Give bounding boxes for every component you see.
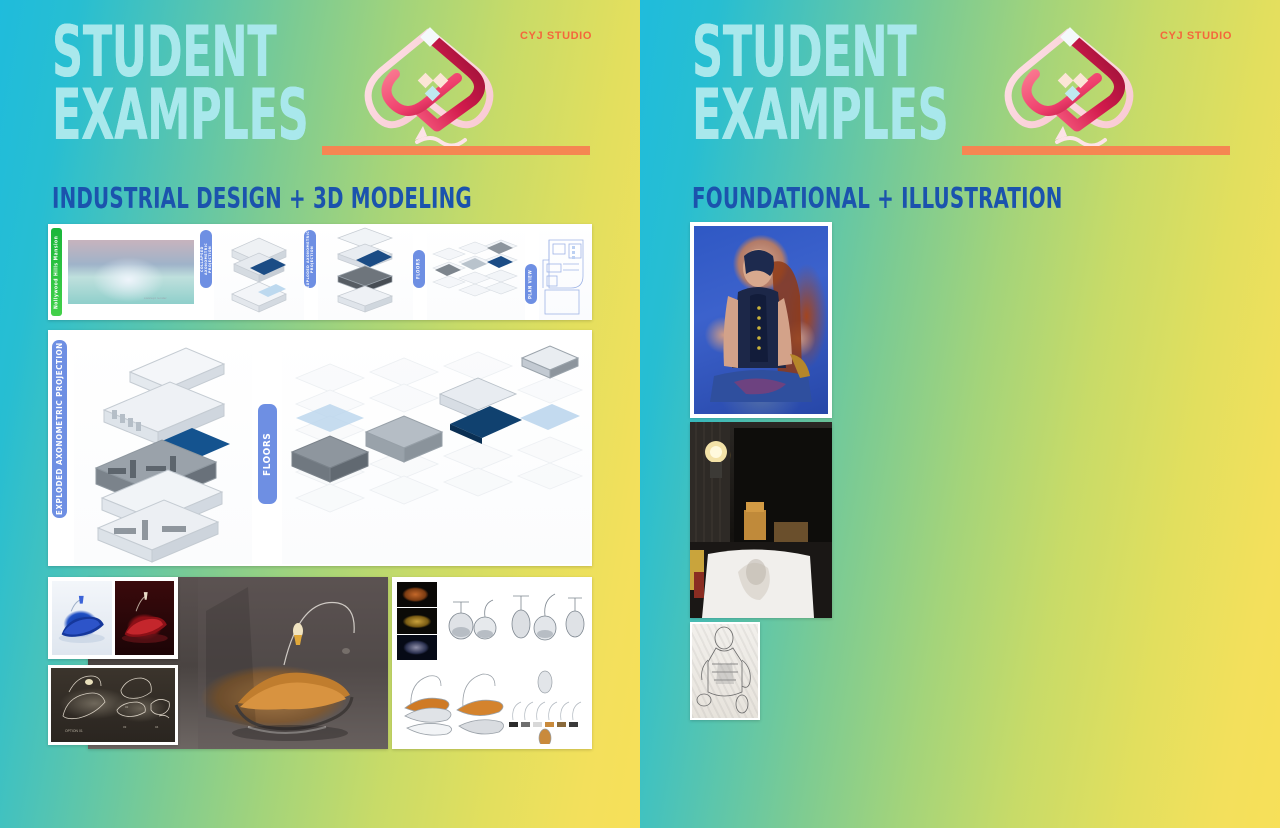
strip-label-plan-view: PLAN VIEW xyxy=(525,264,537,304)
svg-text:04: 04 xyxy=(155,725,159,729)
anatomy-torso-study xyxy=(692,624,758,718)
lounge-chair-color-tile[interactable] xyxy=(48,577,178,659)
page-title: STUDENT EXAMPLES xyxy=(52,22,308,149)
lounge-chair-sketch-tile[interactable]: OPTION 01 02 03 04 xyxy=(48,665,178,745)
mansion-render xyxy=(68,240,194,304)
cyj-studio-logo-icon xyxy=(345,18,515,158)
strip-label-mansion: Nollywood Hills Mansion xyxy=(51,228,62,316)
poster-board: STUDENT EXAMPLES CYJ STUDIO xyxy=(0,0,1280,828)
lounge-chair-red-render xyxy=(115,581,175,655)
lounge-chair-ideation-sketches: OPTION 01 02 03 04 xyxy=(51,668,175,742)
studio-setup-tile[interactable] xyxy=(690,422,832,618)
strip-label-floors: FLOORS xyxy=(413,250,425,288)
title-rule xyxy=(322,146,590,155)
collapsed-axonometric-render xyxy=(214,224,304,320)
strip-label-exploded: EXPLODED AXONOMETRIC PROJECTION xyxy=(304,230,316,288)
strip-label-collapsed: COLLAPSED AXONOMETRIC PROJECTION xyxy=(200,230,212,288)
lamp-form-iterations xyxy=(439,582,587,660)
title-rule xyxy=(962,146,1230,155)
seated-figure-oil-painting xyxy=(694,226,828,414)
floors-sequence-large xyxy=(282,332,590,564)
anatomy-study-tile[interactable] xyxy=(690,622,760,720)
svg-text:03: 03 xyxy=(123,725,127,729)
lounge-chair-blue-render xyxy=(52,581,112,655)
seated-figure-painting-tile[interactable] xyxy=(690,222,832,418)
studio-tag: CYJ STUDIO xyxy=(1160,30,1232,42)
svg-text:02: 02 xyxy=(125,705,129,709)
sketch-caption: OPTION 01 xyxy=(65,729,83,733)
cyj-studio-logo-icon xyxy=(985,18,1155,158)
page-title: STUDENT EXAMPLES xyxy=(692,22,948,149)
lamp-design-board[interactable] xyxy=(392,577,592,749)
mid-label-exploded: EXPLODED AXONOMETRIC PROJECTION xyxy=(52,340,67,518)
panel-foundational-illustration: STUDENT EXAMPLES CYJ STUDIO xyxy=(640,0,1280,828)
page-subtitle: FOUNDATIONAL + ILLUSTRATION xyxy=(692,182,1063,215)
floor-plates-render xyxy=(427,224,525,320)
anglerfish-inspiration-board xyxy=(397,582,437,660)
architecture-strip[interactable]: Nollywood Hills Mansion concept render C… xyxy=(48,224,592,320)
exploded-axonometric-panel[interactable]: EXPLODED AXONOMETRIC PROJECTION xyxy=(48,330,592,566)
panel-industrial-design: STUDENT EXAMPLES CYJ STUDIO xyxy=(0,0,640,828)
mid-label-floors: FLOORS xyxy=(258,404,277,504)
plan-view-drawing xyxy=(539,224,592,320)
studio-tag: CYJ STUDIO xyxy=(520,30,592,42)
left-header: STUDENT EXAMPLES CYJ STUDIO xyxy=(0,0,640,172)
studio-setup-photo xyxy=(690,422,832,618)
right-header: STUDENT EXAMPLES CYJ STUDIO xyxy=(640,0,1280,172)
page-subtitle: INDUSTRIAL DESIGN + 3D MODELING xyxy=(52,182,472,215)
lamp-colorway-studies xyxy=(397,664,587,744)
exploded-axonometric-render xyxy=(318,224,413,320)
exploded-axonometric-large xyxy=(74,332,252,564)
